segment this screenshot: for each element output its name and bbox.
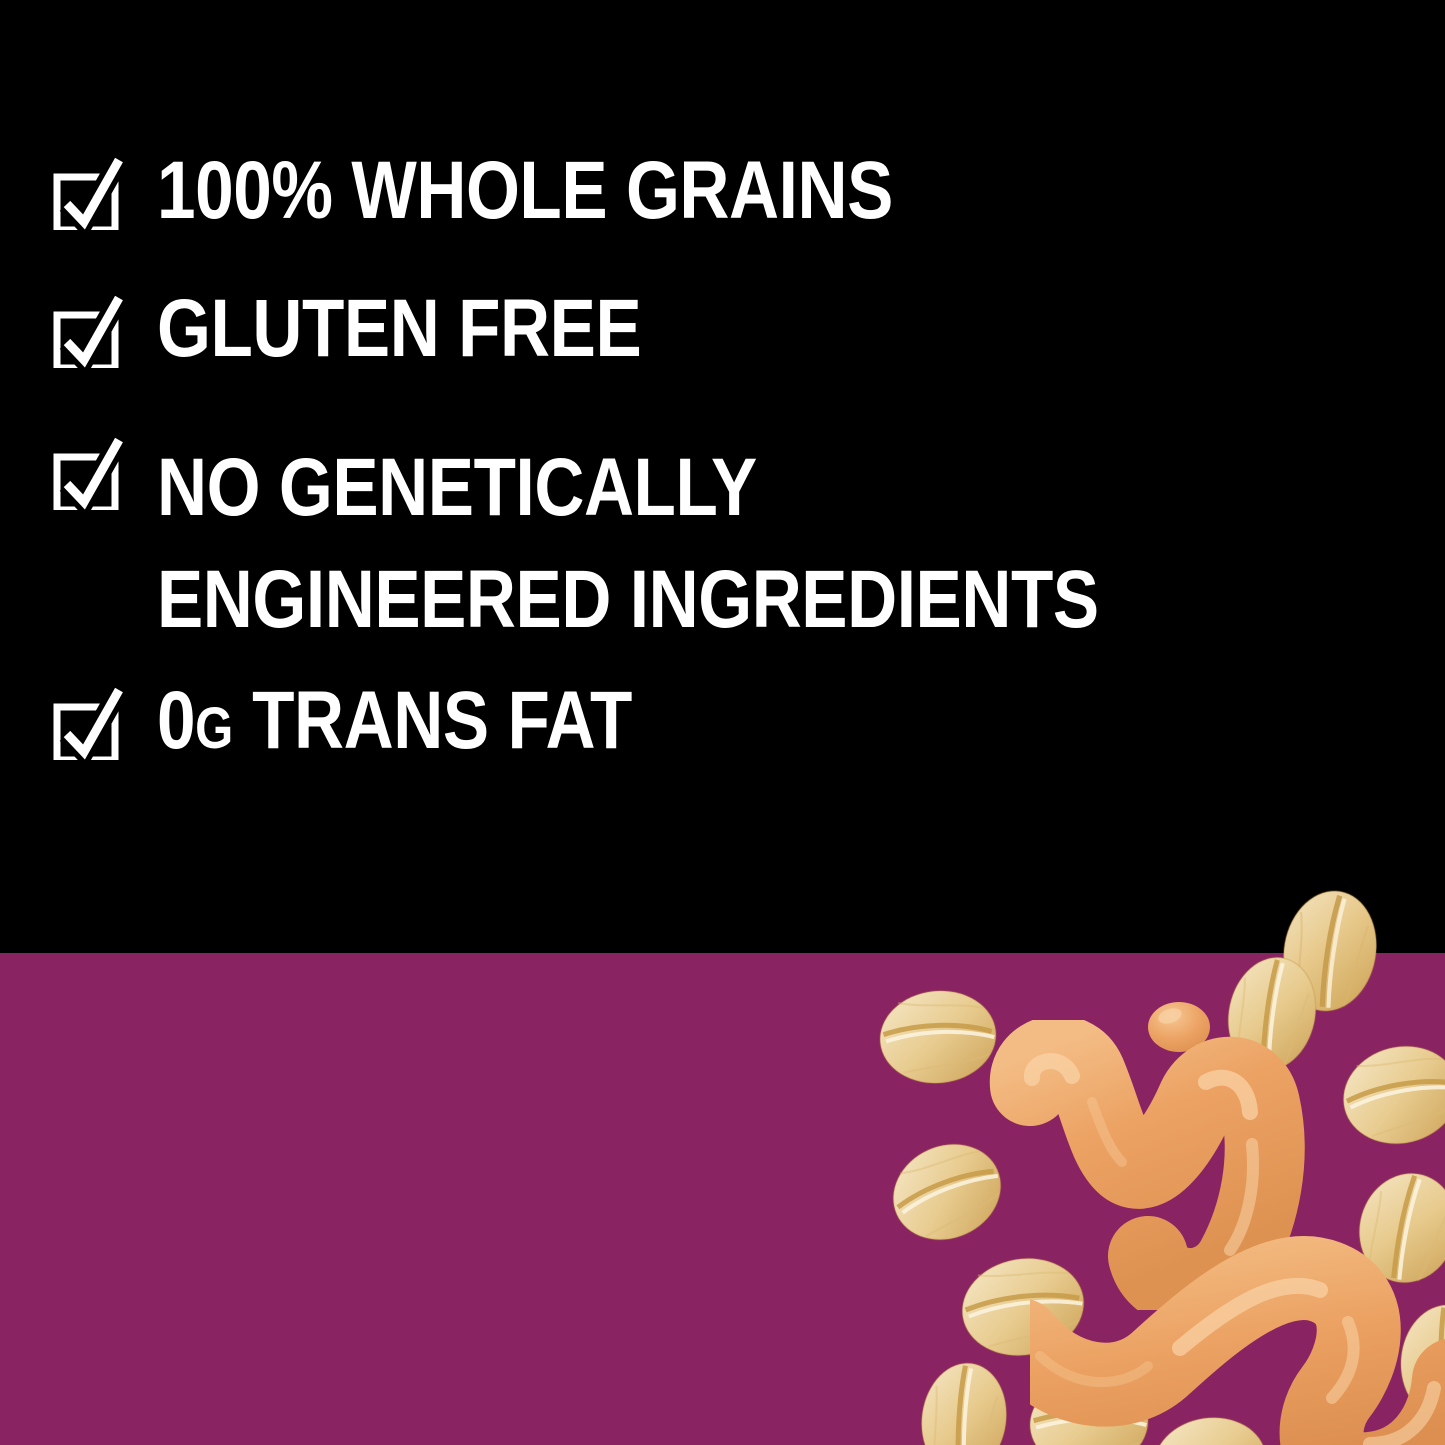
trans-fat-rest: TRANS FAT xyxy=(233,675,632,766)
checked-checkbox-icon xyxy=(53,688,125,760)
trans-fat-value: 0 xyxy=(157,675,195,766)
ad-panel: 100% WHOLE GRAINS GLUTEN FREE xyxy=(0,0,1445,1445)
claim-label-no-gmo-line1: NO GENETICALLY xyxy=(157,432,1099,544)
pb-swirl-lower xyxy=(1030,1230,1445,1445)
claim-label-no-gmo-line2: ENGINEERED INGREDIENTS xyxy=(157,544,1099,656)
claim-label-no-gmo: NO GENETICALLY ENGINEERED INGREDIENTS xyxy=(157,432,1099,656)
claim-label-whole-grains: 100% WHOLE GRAINS xyxy=(157,152,893,230)
checked-checkbox-icon xyxy=(53,438,125,510)
checked-checkbox-icon xyxy=(53,296,125,368)
claim-label-trans-fat: 0G TRANS FAT xyxy=(157,682,632,768)
trans-fat-unit: G xyxy=(195,696,233,761)
oat-flake-8 xyxy=(908,1352,1020,1445)
claim-label-gluten-free: GLUTEN FREE xyxy=(157,290,641,368)
checked-checkbox-icon xyxy=(53,158,125,230)
